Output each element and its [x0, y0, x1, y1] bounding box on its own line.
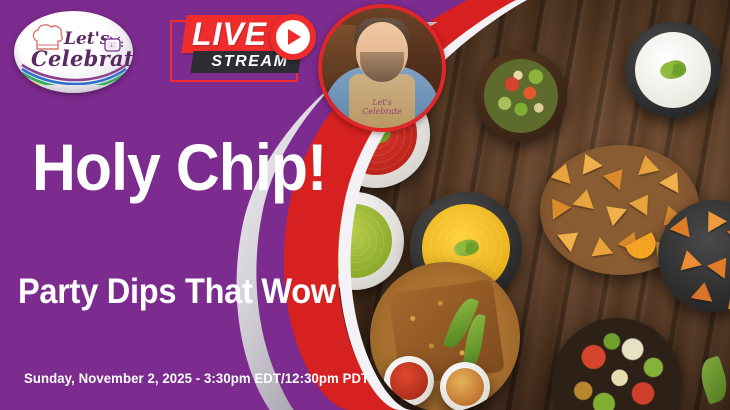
- svg-text:L: L: [109, 43, 114, 49]
- youtube-thumbnail: Let's Celebrate L LIVE: [0, 0, 730, 410]
- lets-celebrate-logo[interactable]: Let's Celebrate L: [14, 11, 133, 93]
- retro-tv-icon: L: [104, 33, 125, 53]
- live-stream-badge[interactable]: LIVE STREAM: [170, 10, 316, 88]
- play-button-inner: [276, 20, 310, 54]
- play-triangle-icon: [288, 29, 301, 45]
- host-portrait[interactable]: Let's Celebrate: [318, 4, 446, 132]
- rainbow-swoosh-icon: [20, 59, 128, 85]
- page-title: Holy Chip!: [32, 132, 326, 202]
- page-subtitle: Party Dips That Wow: [18, 272, 336, 312]
- schedule-datetime: Sunday, November 2, 2025 - 3:30pm EDT/12…: [24, 369, 369, 387]
- nacho-platter: [370, 262, 520, 410]
- chopped-veg-salsa-bowl: [475, 50, 567, 142]
- host-apron-logo: Let's Celebrate: [362, 98, 402, 118]
- play-button-icon[interactable]: [270, 14, 316, 60]
- sour-cream-bowl: [625, 22, 721, 118]
